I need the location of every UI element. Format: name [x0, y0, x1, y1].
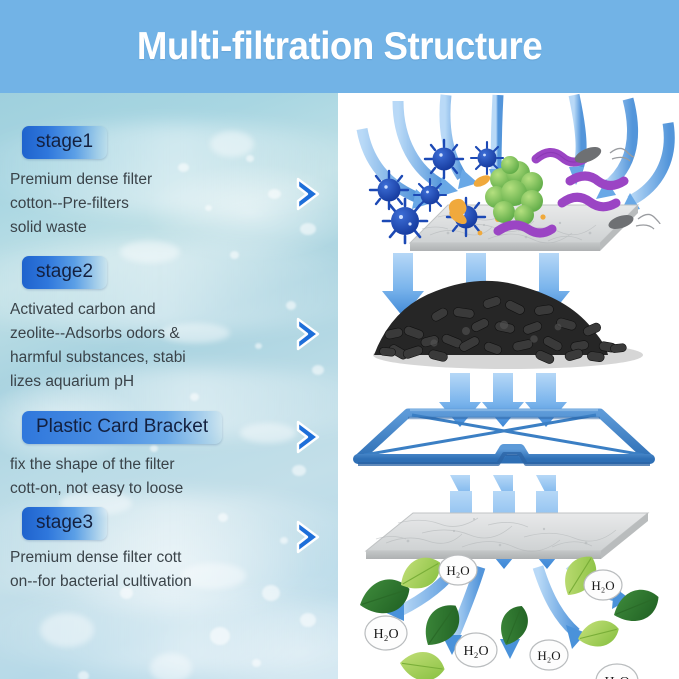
bracket-frame — [358, 410, 650, 464]
stage-3-badge-wrap: stage3 — [22, 507, 338, 540]
bracket-badge-wrap: Plastic Card Bracket — [22, 411, 338, 444]
stage-block-4[interactable]: stage3 Premium dense filter cott on--for… — [0, 507, 338, 594]
illustrations-svg: H₂O H₂O H₂O H₂O — [338, 93, 679, 679]
stage-block-1[interactable]: stage1 Premium dense filter cotton--Pre-… — [0, 126, 338, 240]
left-text-panel: stage1 Premium dense filter cotton--Pre-… — [0, 93, 338, 679]
stage-3-description: Premium dense filter cott on--for bacter… — [10, 546, 310, 594]
stage-3-line-1: Premium dense filter cott — [10, 546, 310, 570]
stage-3-badge: stage3 — [22, 507, 107, 540]
stage-1-badge-wrap: stage1 — [22, 126, 338, 159]
stage-2-line-1: Activated carbon and — [10, 298, 310, 322]
stage-2-line-4: lizes aquarium pH — [10, 370, 310, 394]
stage-1-line-3: solid waste — [10, 216, 310, 240]
chevron-right-icon[interactable] — [292, 315, 326, 353]
filter-pad-stage3 — [366, 513, 648, 559]
page-title: Multi-filtration Structure — [137, 25, 542, 69]
stage-2-description: Activated carbon and zeolite--Adsorbs od… — [10, 298, 310, 394]
stage-2-line-2: zeolite--Adsorbs odors & — [10, 322, 310, 346]
bracket-line-2: cott-on, not easy to loose — [10, 477, 310, 501]
stage-1-illustration — [362, 95, 669, 251]
stage-3-line-2: on--for bacterial cultivation — [10, 570, 310, 594]
h2o-label: H₂O — [463, 644, 488, 659]
stage-block-2[interactable]: stage2 Activated carbon and zeolite--Ads… — [0, 256, 338, 394]
stage-4-illustration: H₂O H₂O H₂O H₂O — [355, 491, 664, 679]
h2o-label: H₂O — [591, 578, 614, 593]
stage-1-badge: stage1 — [22, 126, 107, 159]
stage-block-3[interactable]: Plastic Card Bracket fix the shape of th… — [0, 411, 338, 501]
stage-2-illustration — [373, 253, 643, 369]
chevron-right-icon[interactable] — [292, 175, 326, 213]
right-illustration-panel: H₂O H₂O H₂O H₂O — [338, 93, 679, 679]
bracket-badge: Plastic Card Bracket — [22, 411, 222, 444]
stage-2-badge-wrap: stage2 — [22, 256, 338, 289]
h2o-label: H₂O — [604, 675, 629, 679]
page-header: Multi-filtration Structure — [0, 0, 679, 93]
stage-2-line-3: harmful substances, stabi — [10, 346, 310, 370]
bracket-description: fix the shape of the filter cott-on, not… — [10, 453, 310, 501]
h2o-label: H₂O — [373, 627, 398, 642]
h2o-label: H₂O — [446, 563, 469, 578]
chevron-right-icon[interactable] — [292, 518, 326, 556]
infographic-page: Multi-filtration Structure — [0, 0, 679, 679]
stage-1-description: Premium dense filter cotton--Pre-filters… — [10, 168, 310, 240]
stage-2-badge: stage2 — [22, 256, 107, 289]
chevron-right-icon[interactable] — [292, 418, 326, 456]
bracket-line-1: fix the shape of the filter — [10, 453, 310, 477]
stage-1-line-2: cotton--Pre-filters — [10, 192, 310, 216]
h2o-label: H₂O — [537, 648, 560, 663]
stage-1-line-1: Premium dense filter — [10, 168, 310, 192]
